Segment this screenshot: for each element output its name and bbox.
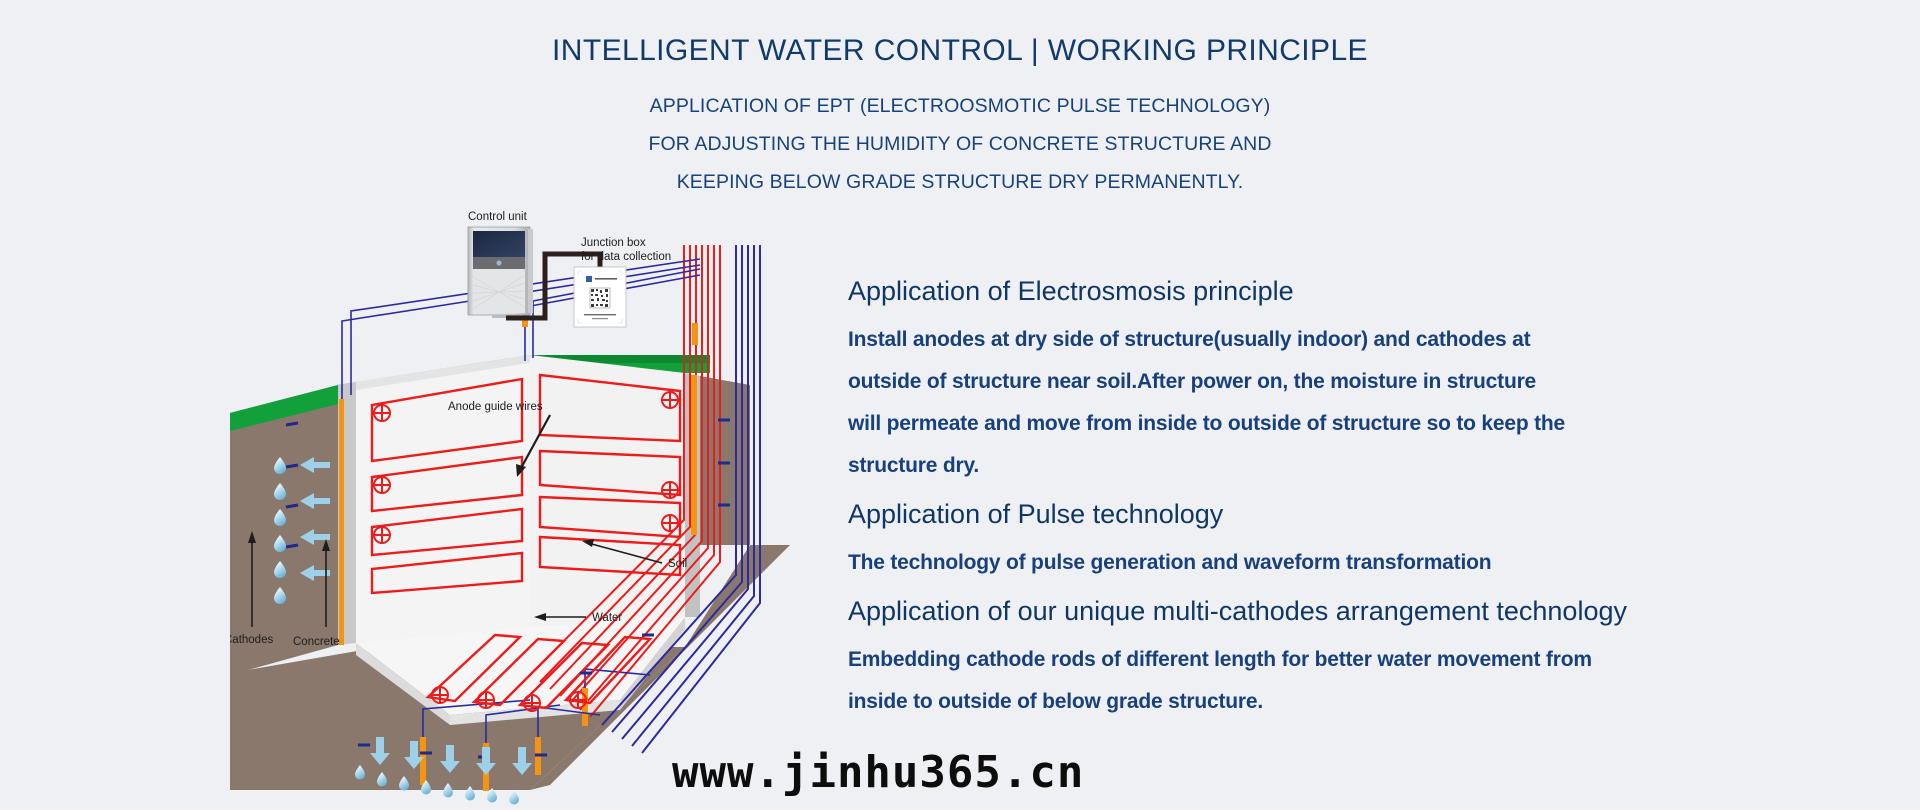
slide-root: INTELLIGENT WATER CONTROL | WORKING PRIN… xyxy=(0,0,1920,810)
cathode-rod xyxy=(420,737,426,785)
anode-symbol xyxy=(662,515,678,531)
header: INTELLIGENT WATER CONTROL | WORKING PRIN… xyxy=(0,0,1920,201)
anode-symbol xyxy=(374,477,390,493)
section1-line-3: will permeate and move from inside to ou… xyxy=(848,403,1808,445)
section-heading-pulse: Application of Pulse technology xyxy=(848,501,1808,528)
anode-symbol xyxy=(374,405,390,421)
subtitle-line-3: KEEPING BELOW GRADE STRUCTURE DRY PERMAN… xyxy=(0,163,1920,201)
anode-symbol xyxy=(478,692,494,708)
label-control-unit: Control unit xyxy=(468,211,527,223)
label-cathodes: Cathodes xyxy=(230,634,273,646)
cathode-rod xyxy=(339,399,344,645)
label-junction-box-line1: Junction box xyxy=(581,236,671,250)
anode-symbol xyxy=(524,695,540,711)
junction-box-document xyxy=(574,267,626,327)
control-unit-group xyxy=(450,205,770,405)
anode-symbol xyxy=(374,527,390,543)
anode-symbol xyxy=(662,482,678,498)
label-water: Water xyxy=(592,612,622,624)
qr-code-icon xyxy=(590,288,610,308)
label-junction-box-line2: for data collection xyxy=(581,250,671,264)
control-unit-device xyxy=(468,227,533,318)
section1-line-1: Install anodes at dry side of structure(… xyxy=(848,319,1808,361)
spacer xyxy=(848,487,1808,493)
subtitle-line-1: APPLICATION OF EPT (ELECTROOSMOTIC PULSE… xyxy=(0,87,1920,125)
page-title: INTELLIGENT WATER CONTROL | WORKING PRIN… xyxy=(0,36,1920,66)
section3-line-2: inside to outside of below grade structu… xyxy=(848,681,1808,723)
subtitle-block: APPLICATION OF EPT (ELECTROOSMOTIC PULSE… xyxy=(0,87,1920,201)
section2-line-1: The technology of pulse generation and w… xyxy=(848,542,1808,584)
label-soil: Soil xyxy=(668,558,687,570)
label-concrete: Concrete xyxy=(293,636,340,648)
label-junction-box: Junction box for data collection xyxy=(581,236,671,264)
spacer xyxy=(848,584,1808,590)
content-column: Application of Electrosmosis principle I… xyxy=(848,278,1808,723)
soil-block-left xyxy=(230,385,338,675)
anode-symbol xyxy=(432,687,448,703)
watermark: www.jinhu365.cn xyxy=(672,751,1084,795)
anode-symbol xyxy=(570,692,586,708)
section-heading-electrosmosis: Application of Electrosmosis principle xyxy=(848,278,1808,305)
section3-line-1: Embedding cathode rods of different leng… xyxy=(848,639,1808,681)
section1-line-4: structure dry. xyxy=(848,445,1808,487)
subtitle-line-2: FOR ADJUSTING THE HUMIDITY OF CONCRETE S… xyxy=(0,125,1920,163)
section-heading-multicathodes: Application of our unique multi-cathodes… xyxy=(848,598,1808,625)
section1-line-2: outside of structure near soil.After pow… xyxy=(848,361,1808,403)
